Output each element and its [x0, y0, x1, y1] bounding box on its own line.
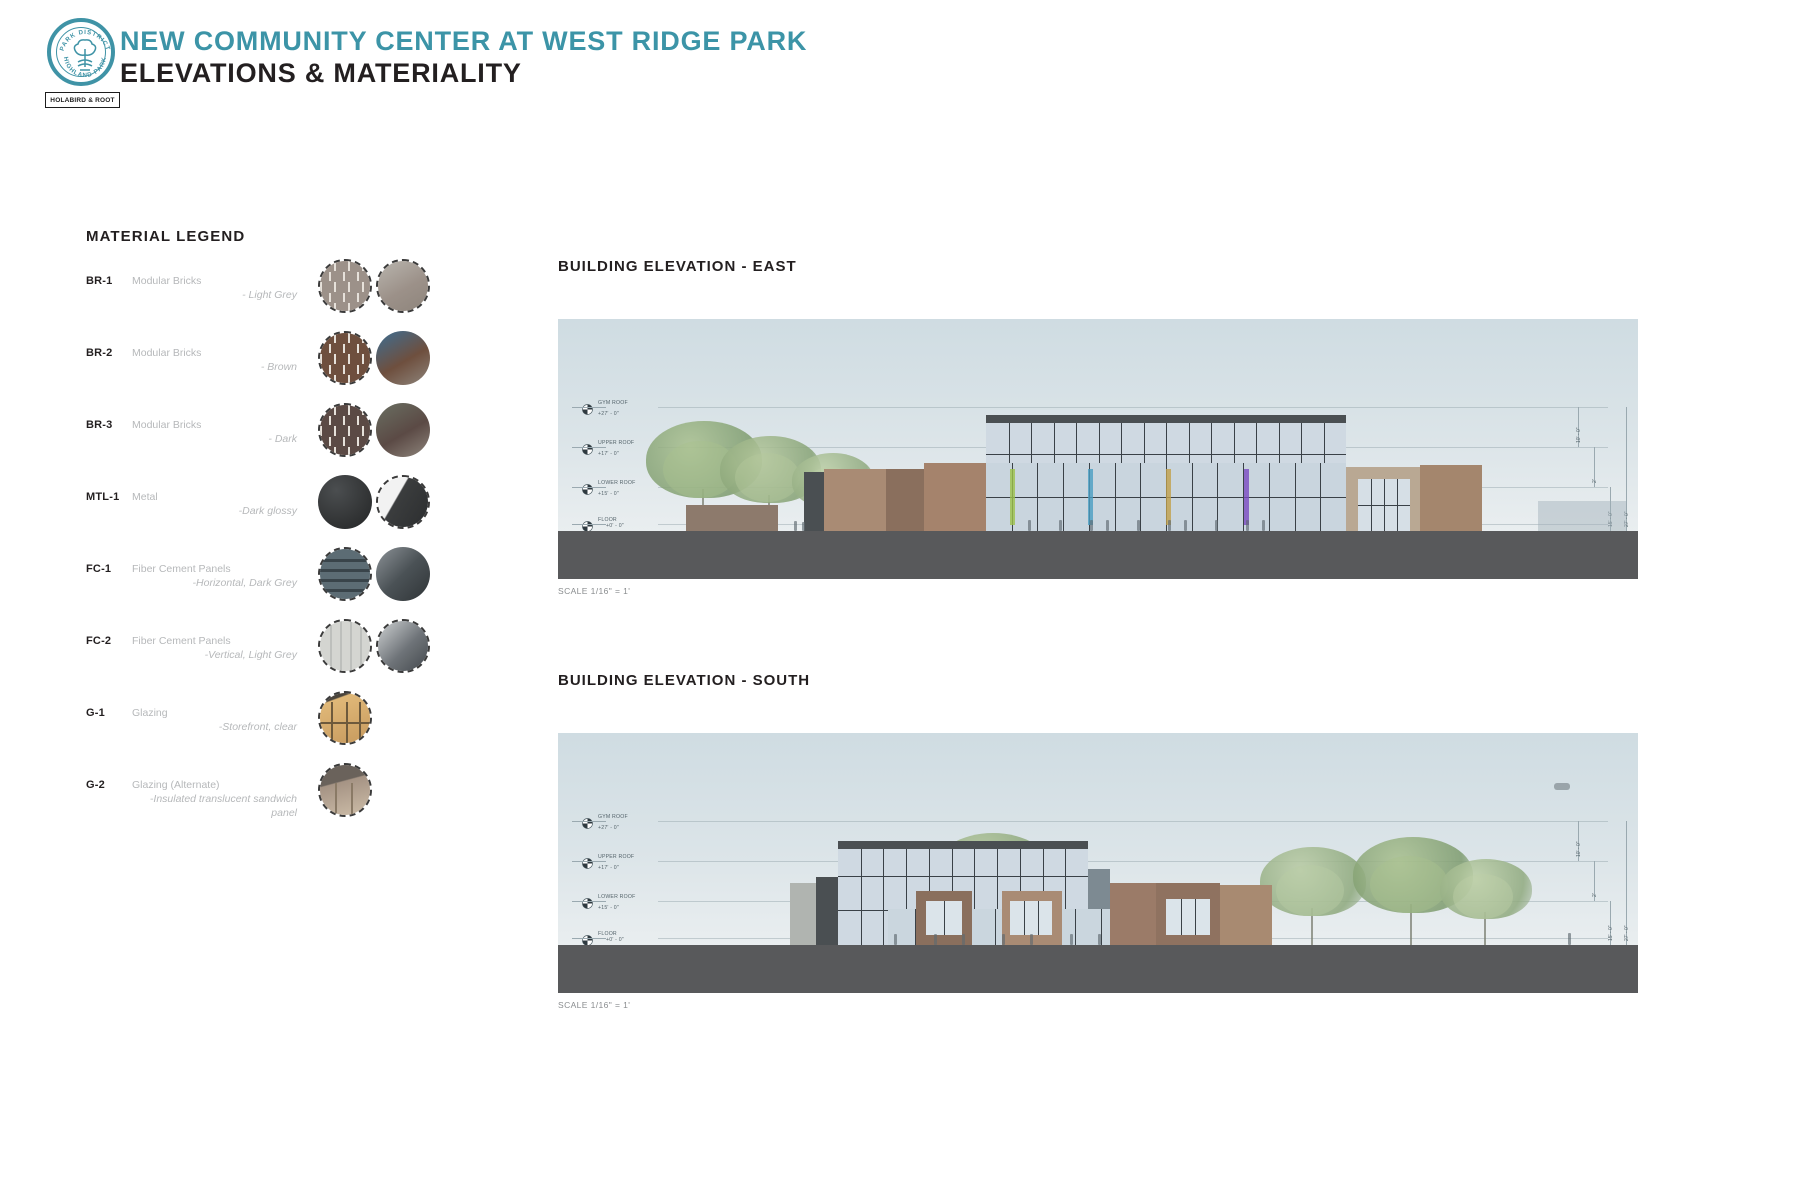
dimension-label: 2': [1592, 893, 1598, 897]
material-description-line2: - Brown: [132, 360, 297, 374]
level-extension-line: [658, 821, 1608, 822]
elevation-south: BUILDING ELEVATION - SOUTH GYM ROOF+27' …: [558, 672, 1678, 1010]
material-swatches: [282, 689, 502, 757]
material-swatch-primary: [318, 763, 372, 817]
window-unit-1: [926, 901, 962, 935]
scale-figure: [1568, 933, 1571, 945]
material-swatch-application-photo: [376, 619, 430, 673]
material-swatch-primary: [318, 403, 372, 457]
scale-figure: [1059, 520, 1062, 531]
material-swatch-primary: [318, 691, 372, 745]
scale-figure: [962, 934, 965, 945]
material-description-line2: - Light Grey: [132, 288, 297, 302]
material-description: Fiber Cement Panels-Vertical, Light Grey: [132, 634, 297, 662]
material-swatches: [282, 761, 502, 829]
material-swatches: [282, 329, 502, 397]
accent-fin-1: [1010, 469, 1015, 525]
elevation-south-drawing: GYM ROOF+27' - 0"UPPER ROOF+17' - 0"LOWE…: [558, 733, 1638, 993]
facade-brick-panel-right: [1420, 465, 1482, 531]
scale-figure: [1168, 520, 1171, 531]
dimension-label: 10' - 0": [1576, 427, 1582, 443]
level-name: UPPER ROOF: [598, 854, 634, 860]
material-description-line1: Modular Bricks: [132, 346, 297, 360]
level-elevation: +0' - 0": [606, 937, 624, 943]
scale-figure: [1246, 520, 1249, 531]
level-elevation: +0' - 0": [606, 523, 624, 529]
material-description: Modular Bricks- Brown: [132, 346, 297, 374]
level-annotation: GYM ROOF+27' - 0": [598, 400, 628, 417]
scale-figure: [1070, 934, 1073, 945]
material-description-line2: - Dark: [132, 432, 297, 446]
site-wall: [686, 505, 778, 531]
material-swatch-application-photo: [376, 403, 430, 457]
material-swatch-application-photo: [376, 259, 430, 313]
dimension-label: 15' - 0": [1608, 925, 1614, 941]
facade-brick-return: [1220, 885, 1272, 945]
material-swatch-primary: [318, 475, 372, 529]
material-swatches: [282, 401, 502, 469]
material-legend: MATERIAL LEGEND BR-1Modular Bricks- Ligh…: [86, 228, 506, 245]
gym-parapet: [838, 841, 1088, 849]
curtain-wall-mullions: [1010, 901, 1052, 935]
scale-figure: [794, 521, 797, 531]
material-description-line2: -Storefront, clear: [132, 720, 297, 734]
material-swatch-application-photo: [376, 331, 430, 385]
curtain-wall-mullions: [926, 901, 962, 935]
scale-figure: [1184, 520, 1187, 531]
level-elevation: +17' - 0": [598, 451, 634, 457]
scale-figure: [1090, 520, 1093, 531]
material-swatch-primary: [318, 547, 372, 601]
facade-brick-panel-dark: [886, 469, 924, 531]
material-description-line1: Fiber Cement Panels: [132, 634, 297, 648]
level-annotation: UPPER ROOF+17' - 0": [598, 854, 634, 871]
sheet-subtitle: ELEVATIONS & MATERIALITY: [120, 58, 807, 90]
material-code: G-2: [86, 779, 128, 791]
scale-figure: [802, 522, 805, 531]
level-annotation: GYM ROOF+27' - 0": [598, 814, 628, 831]
level-annotation: FLOOR+0' - 0": [598, 517, 624, 529]
main-entry-glazing: [1358, 479, 1410, 531]
material-description: Modular Bricks- Light Grey: [132, 274, 297, 302]
material-description: Fiber Cement Panels-Horizontal, Dark Gre…: [132, 562, 297, 590]
scale-figure: [1002, 934, 1005, 945]
level-elevation: +17' - 0": [598, 865, 634, 871]
material-code: BR-2: [86, 347, 128, 359]
material-swatches: [282, 473, 502, 541]
window-unit-3: [1166, 899, 1210, 935]
level-name: LOWER ROOF: [598, 894, 635, 900]
park-district-logo: PARK DISTRICT HIGHLAND PARK HOLABIRD & R…: [45, 18, 120, 108]
level-name: GYM ROOF: [598, 400, 628, 406]
material-description-line1: Fiber Cement Panels: [132, 562, 297, 576]
page-title: NEW COMMUNITY CENTER AT WEST RIDGE PARK …: [120, 26, 807, 90]
ground-plane: [558, 531, 1638, 579]
dimension-label: 27' - 0": [1624, 925, 1630, 941]
tree: [1438, 859, 1534, 945]
level-elevation: +27' - 0": [598, 411, 628, 417]
gym-parapet: [986, 415, 1346, 423]
level-annotation: FLOOR+0' - 0": [598, 931, 624, 943]
adjacent-structure: [1538, 501, 1626, 531]
elevation-east-title: BUILDING ELEVATION - EAST: [558, 258, 1678, 275]
material-description-line1: Modular Bricks: [132, 418, 297, 432]
level-elevation: +15' - 0": [598, 905, 635, 911]
ground-plane: [558, 945, 1638, 993]
project-title: NEW COMMUNITY CENTER AT WEST RIDGE PARK: [120, 26, 807, 58]
accent-fin-4: [1244, 469, 1249, 525]
material-swatch-application-photo: [376, 547, 430, 601]
material-swatch-primary: [318, 331, 372, 385]
material-swatch-primary: [318, 619, 372, 673]
material-swatch-application-photo: [376, 475, 430, 529]
scale-figure: [894, 934, 897, 945]
accent-fin-2: [1088, 469, 1093, 525]
scale-figure: [1106, 520, 1109, 531]
material-description-line2: -Vertical, Light Grey: [132, 648, 297, 662]
material-description: Modular Bricks- Dark: [132, 418, 297, 446]
facade-brick-panel-mid: [924, 463, 986, 531]
material-description: Metal-Dark glossy: [132, 490, 297, 518]
level-name: GYM ROOF: [598, 814, 628, 820]
material-description-line1: Metal: [132, 490, 297, 504]
level-annotation: LOWER ROOF+15' - 0": [598, 894, 635, 911]
level-extension-line: [658, 407, 1608, 408]
material-description-line2: -Horizontal, Dark Grey: [132, 576, 297, 590]
architect-firm-badge: HOLABIRD & ROOT: [45, 92, 120, 108]
page-header: PARK DISTRICT HIGHLAND PARK HOLABIRD & R…: [0, 0, 1800, 125]
material-legend-item: G-2Glazing (Alternate)-Insulated translu…: [86, 777, 506, 849]
elevation-south-title: BUILDING ELEVATION - SOUTH: [558, 672, 1678, 689]
scale-figure: [1215, 520, 1218, 531]
park-district-seal-icon: PARK DISTRICT HIGHLAND PARK: [47, 18, 115, 86]
dimension-label: 2': [1592, 479, 1598, 483]
level-elevation: +27' - 0": [598, 825, 628, 831]
material-swatches: [282, 617, 502, 685]
dimension-label: 10' - 0": [1576, 841, 1582, 857]
material-description-line2: -Dark glossy: [132, 504, 297, 518]
facade-metal-fin: [804, 472, 824, 531]
level-name: LOWER ROOF: [598, 480, 635, 486]
material-description-line1: Glazing: [132, 706, 297, 720]
facade-metal-fin: [816, 877, 838, 945]
curtain-wall-mullions: [1166, 899, 1210, 935]
level-annotation: UPPER ROOF+17' - 0": [598, 440, 634, 457]
window-unit-2: [1010, 901, 1052, 935]
level-annotation: LOWER ROOF+15' - 0": [598, 480, 635, 497]
facade-brick-panel-left: [824, 469, 886, 531]
material-swatch-primary: [318, 259, 372, 313]
material-description: Glazing-Storefront, clear: [132, 706, 297, 734]
elevation-east-scale: SCALE 1/16" = 1': [558, 586, 1678, 596]
material-code: BR-1: [86, 275, 128, 287]
material-description: Glazing (Alternate)-Insulated translucen…: [132, 778, 297, 821]
elevation-south-scale: SCALE 1/16" = 1': [558, 1000, 1678, 1010]
material-swatches: [282, 257, 502, 325]
scale-figure: [1262, 520, 1265, 531]
material-legend-rows: BR-1Modular Bricks- Light GreyBR-2Modula…: [86, 273, 506, 849]
facade-brick-panel-mid: [1110, 883, 1156, 945]
material-code: FC-2: [86, 635, 128, 647]
scale-figure: [1028, 520, 1031, 531]
scale-figure: [1098, 934, 1101, 945]
curtain-wall-mullions: [1358, 479, 1410, 531]
scale-figure: [1030, 934, 1033, 945]
material-legend-title: MATERIAL LEGEND: [86, 228, 506, 245]
architect-firm-label: HOLABIRD & ROOT: [50, 97, 114, 104]
facade-fiber-cement-vertical: [790, 883, 816, 945]
material-description-line1: Modular Bricks: [132, 274, 297, 288]
level-name: UPPER ROOF: [598, 440, 634, 446]
material-description-line2: -Insulated translucent sandwich panel: [132, 792, 297, 820]
material-swatches: [282, 545, 502, 613]
material-code: G-1: [86, 707, 128, 719]
scale-figure: [1137, 520, 1140, 531]
elevation-east: BUILDING ELEVATION - EAST GYM ROOF+27' -…: [558, 258, 1678, 596]
accent-fin-3: [1166, 469, 1171, 525]
material-code: FC-1: [86, 563, 128, 575]
elevation-east-drawing: GYM ROOF+27' - 0"UPPER ROOF+17' - 0"LOWE…: [558, 319, 1638, 579]
level-elevation: +15' - 0": [598, 491, 635, 497]
scale-figure: [934, 934, 937, 945]
bicycle: [1554, 783, 1570, 790]
material-code: BR-3: [86, 419, 128, 431]
material-description-line1: Glazing (Alternate): [132, 778, 297, 792]
material-code: MTL-1: [86, 491, 128, 503]
